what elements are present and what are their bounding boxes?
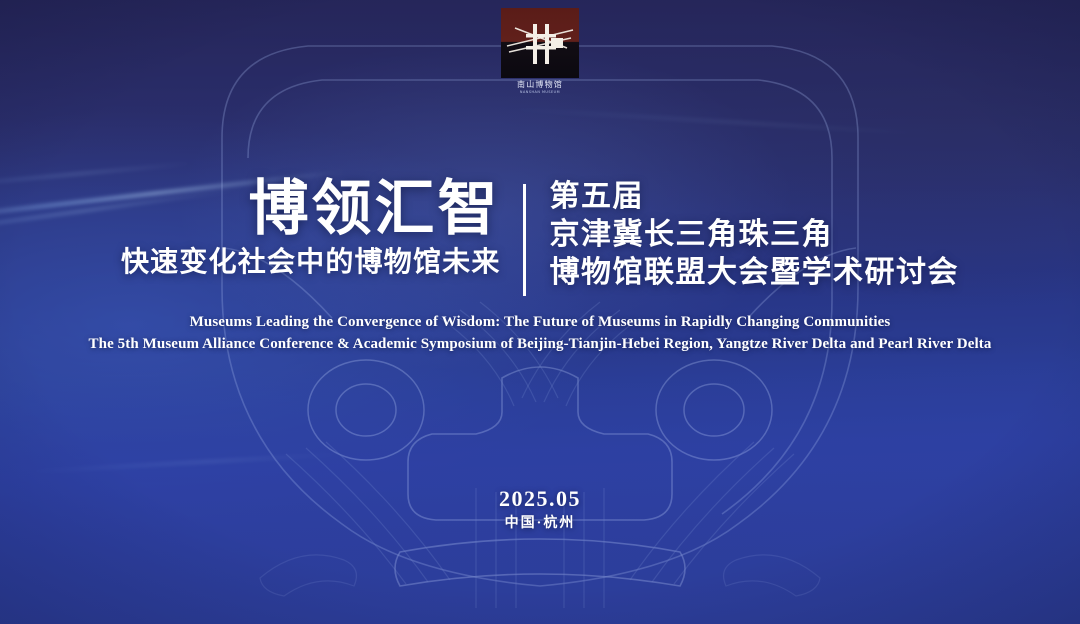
headline-right: 第五届 京津冀长三角珠三角 博物馆联盟大会暨学术研讨会: [526, 178, 960, 292]
museum-logo: 南山博物馆 NANSHAN MUSEUM: [492, 8, 588, 94]
page-title: 博领汇智: [121, 178, 501, 242]
conference-name-label: 博物馆联盟大会暨学术研讨会: [550, 254, 960, 292]
edition-label: 第五届: [550, 178, 960, 216]
event-date: 2025.05: [0, 486, 1080, 512]
logo-name-en: NANSHAN MUSEUM: [492, 91, 588, 94]
english-line-1: Museums Leading the Convergence of Wisdo…: [0, 312, 1080, 334]
event-place: 中国·杭州: [0, 516, 1080, 533]
english-strapline: Museums Leading the Convergence of Wisdo…: [0, 312, 1080, 356]
page-subtitle: 快速变化社会中的博物馆未来: [121, 248, 501, 279]
logo-name-cn: 南山博物馆: [492, 81, 588, 89]
headline-block: 博领汇智 快速变化社会中的博物馆未来 第五届 京津冀长三角珠三角 博物馆联盟大会…: [0, 178, 1080, 296]
english-line-2: The 5th Museum Alliance Conference & Aca…: [0, 334, 1080, 356]
headline-left: 博领汇智 快速变化社会中的博物馆未来: [121, 178, 523, 278]
logo-mark: [501, 8, 579, 78]
conference-poster: 南山博物馆 NANSHAN MUSEUM 博领汇智 快速变化社会中的博物馆未来 …: [0, 0, 1080, 624]
regions-label: 京津冀长三角珠三角: [550, 216, 960, 254]
bronze-vessel-emblem-icon: [501, 8, 579, 78]
date-place-block: 2025.05 中国·杭州: [0, 486, 1080, 533]
